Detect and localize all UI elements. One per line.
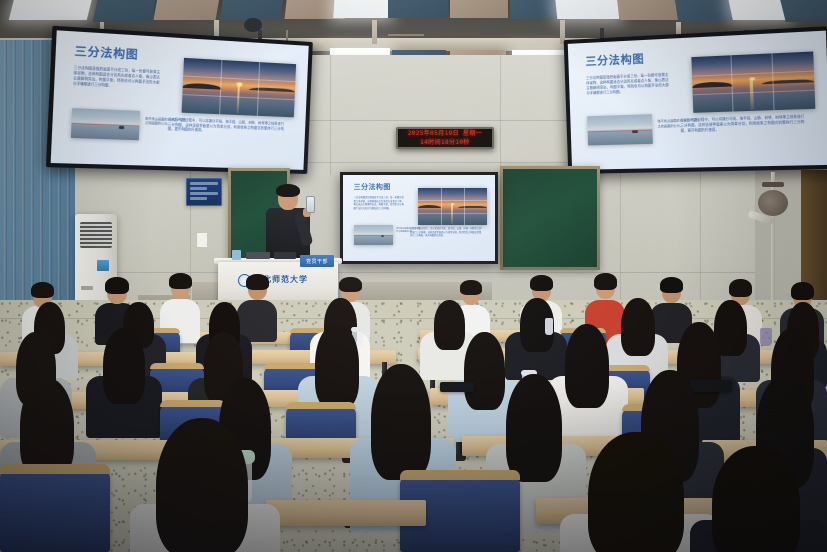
ceiling-support <box>372 20 377 44</box>
slide-photo-sunset <box>181 57 296 117</box>
slide-photo-lake <box>354 225 394 245</box>
slide-photo-sunset <box>691 51 815 113</box>
student <box>130 416 280 552</box>
podium-equipment <box>246 252 270 259</box>
ceiling-panel-tan <box>154 0 221 20</box>
slide-left: 三分法构图 三分法构图是指把画面平分成三份，每一份都可放置主体景物，这种构图适合… <box>51 30 309 170</box>
podium-laptop <box>274 252 296 259</box>
student <box>690 444 827 552</box>
wall-notice-paper <box>196 232 208 248</box>
slide-body-text: 三分法构图是指把画面平分成三份，每一份都可放置主体景物，这种构图适合分割风光或者… <box>586 72 669 96</box>
ceiling-light-panel <box>727 0 789 20</box>
smartphone-icon <box>306 196 315 213</box>
led-line-2: 14时间18分10秒 <box>420 138 470 147</box>
podium-bottle <box>232 250 241 260</box>
display-right: 三分法构图 三分法构图是指把画面平分成三份，每一份都可放置主体景物，这种构图适合… <box>564 26 827 174</box>
slide-body-text: 三分法构图是指把画面平分成三份，每一份都可放置主体景物，这种构图适合分割风光或者… <box>354 197 404 211</box>
slide-projected: 三分法构图 三分法构图是指把画面平分成三份，每一份都可放置主体景物，这种构图适合… <box>343 175 495 261</box>
ceiling-panel-blue <box>778 0 827 22</box>
presenter-watch <box>298 218 307 221</box>
ceiling-panel-blue <box>388 0 448 18</box>
slide-body-text-2: 在实际构图过程中，可以将湖分平线、海平线、山脉、树林、树林等之线条进行三分构图，… <box>680 115 805 134</box>
slide-photo-sunset <box>418 188 488 225</box>
ceiling-pipe <box>388 34 424 36</box>
slide-title: 三分法构图 <box>354 182 391 192</box>
slide-body-text-2: 在实际构图过程中，可以将湖分平线、海平线、山脉、树林、树林等之线条进行三分构图，… <box>168 117 284 136</box>
chair-trim <box>286 402 356 409</box>
projection-screen: 三分法构图 三分法构图是指把画面平分成三份，每一份都可放置主体景物，这种构图适合… <box>340 172 498 264</box>
display-left: 三分法构图 三分法构图是指把画面平分成三份，每一份都可放置主体景物，这种构图适合… <box>46 26 313 174</box>
classroom-photo: 三分法构图 三分法构图是指把画面平分成三份，每一份都可放置主体景物，这种构图适合… <box>0 0 827 552</box>
chair-trim <box>400 470 520 480</box>
ceiling-panel-blue <box>673 0 734 21</box>
slide-body-text-2: 在实际构图过程中，可以将湖分平线、海平线、山脉、树林、树林等之线条进行三分构图，… <box>410 228 481 238</box>
blackboard-right <box>500 166 600 270</box>
podium-nameplate: 党员干部 <box>300 255 334 267</box>
ceiling-panel-blue <box>220 0 284 20</box>
ceiling-panel-tan <box>450 0 508 18</box>
ceiling-panel-blue <box>93 0 157 22</box>
led-banner: 2025年05月19日 星期一 14时间18分10秒 <box>396 127 494 149</box>
ac-vent-grill <box>80 222 112 248</box>
fan-clamp <box>762 182 784 187</box>
nameplate-label: 党员干部 <box>306 258 328 265</box>
slide-photo-lake <box>587 114 653 145</box>
student <box>86 326 162 426</box>
slide-title: 三分法构图 <box>74 42 139 62</box>
slide-body-text: 三分法构图是指把画面平分成三份，每一份都可放置主体景物，这种构图适合分割风光或者… <box>73 66 160 91</box>
ac-badge-icon <box>97 260 109 271</box>
desk <box>266 500 426 526</box>
slide-photo-lake <box>71 108 141 141</box>
chair[interactable] <box>0 470 110 552</box>
ceiling-light-panel <box>9 0 93 20</box>
ceiling-light-panel <box>555 0 620 19</box>
slide-title: 三分法构图 <box>585 50 644 69</box>
ceiling-panel-tan <box>616 0 678 20</box>
ceiling-light-panel <box>333 0 391 18</box>
slide-right: 三分法构图 三分法构图是指把画面平分成三份，每一份都可放置主体景物，这种构图适合… <box>568 31 827 170</box>
wall-information-sign <box>186 178 222 206</box>
chair-trim <box>0 464 110 474</box>
wall-seam <box>330 55 331 175</box>
led-line-1: 2025年05月19日 星期一 <box>408 129 483 138</box>
wall-fan-icon <box>758 190 788 216</box>
ac-logo <box>81 286 93 290</box>
presenter-hair <box>276 184 300 197</box>
wall-seam <box>500 55 501 175</box>
